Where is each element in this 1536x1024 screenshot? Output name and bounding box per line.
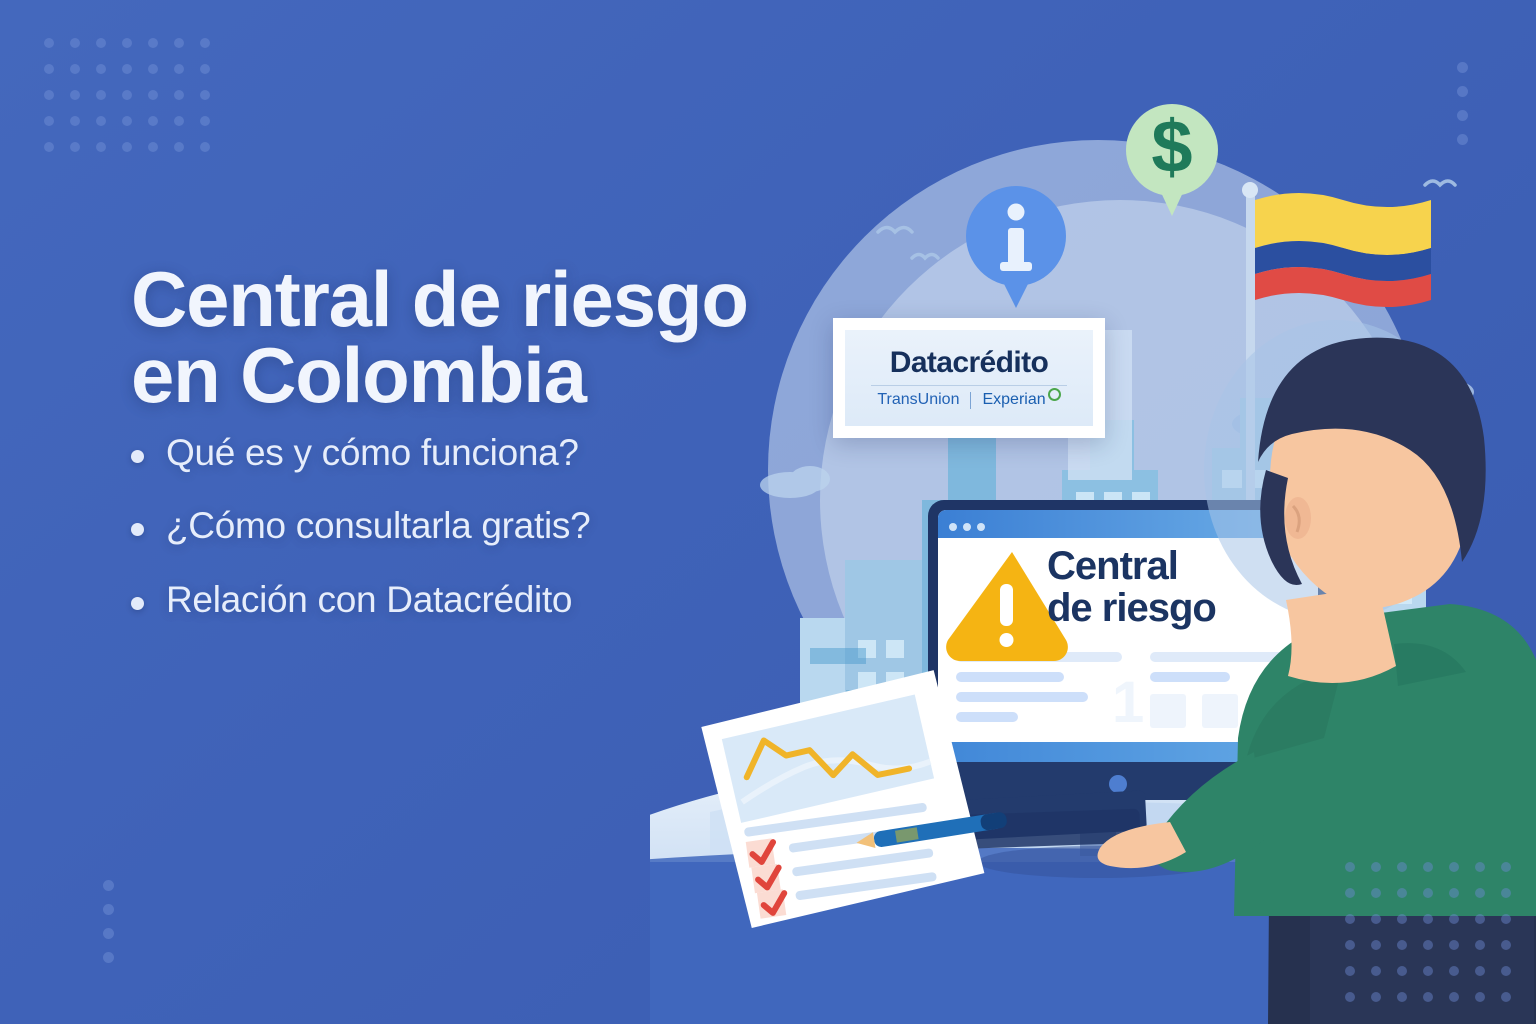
page-title: Central de riesgo en Colombia — [131, 262, 871, 413]
experian-text: Experian — [982, 392, 1045, 408]
logo-card-divider — [871, 385, 1067, 386]
bullet-dot-icon — [131, 597, 144, 610]
list-item: ¿Cómo consultarla gratis? — [131, 505, 831, 546]
bullet-list: Qué es y cómo funciona? ¿Cómo consultarl… — [131, 432, 831, 652]
monitor-title-line-2: de riesgo — [1047, 587, 1287, 629]
list-item: Relación con Datacrédito — [131, 579, 831, 620]
svg-text:1: 1 — [1112, 670, 1144, 735]
datacredito-logo-card: Datacrédito TransUnion Experian — [833, 318, 1105, 438]
logo-card-partners: TransUnion Experian — [877, 392, 1060, 409]
svg-text:$: $ — [1151, 105, 1192, 188]
bullet-text: Relación con Datacrédito — [166, 579, 572, 620]
logo-card-inner: Datacrédito TransUnion Experian — [845, 330, 1093, 426]
list-item: Qué es y cómo funciona? — [131, 432, 831, 473]
experian-ring-icon — [1048, 388, 1061, 401]
bullet-text: ¿Cómo consultarla gratis? — [166, 505, 590, 546]
page-title-line-2: en Colombia — [131, 338, 871, 414]
bullet-text: Qué es y cómo funciona? — [166, 432, 579, 473]
poster-canvas: $ — [0, 0, 1536, 1024]
monitor-title-line-1: Central — [1047, 545, 1287, 587]
datacredito-brand-text: Datacrédito — [890, 348, 1048, 378]
page-title-line-1: Central de riesgo — [131, 262, 871, 338]
bullet-dot-icon — [131, 450, 144, 463]
monitor-screen-title: Central de riesgo — [1047, 545, 1287, 629]
partner-separator — [970, 392, 971, 409]
bullet-dot-icon — [131, 523, 144, 536]
transunion-text: TransUnion — [877, 392, 959, 408]
